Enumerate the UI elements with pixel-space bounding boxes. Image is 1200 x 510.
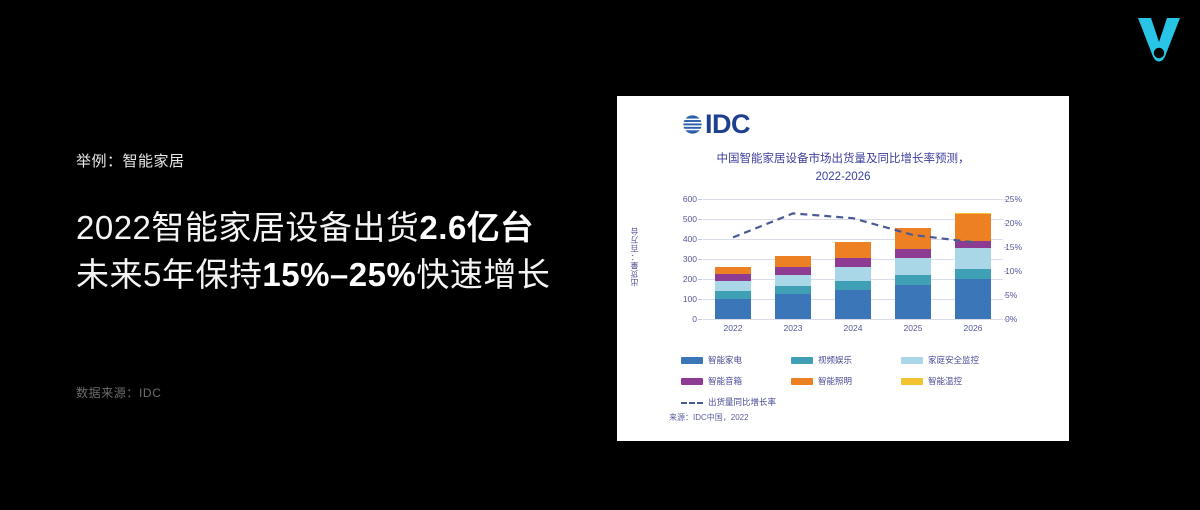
legend-color-swatch [681,378,703,385]
x-tick-label: 2026 [955,323,991,333]
bar-column[interactable] [715,267,751,319]
legend-color-swatch [791,357,813,364]
headline-line-1-emphasis: 2.6亿台 [419,209,533,246]
legend-color-swatch [681,357,703,364]
y-axis-label: 出货量：百万台 [629,227,643,287]
legend-color-swatch [901,378,923,385]
bar-segment[interactable] [955,248,991,269]
y-tick-left: 300 [683,254,697,264]
bar-segment[interactable] [775,256,811,267]
legend-label: 出货量同比增长率 [708,396,776,408]
axis-tick-mark [698,279,702,280]
x-tick-label: 2022 [715,323,751,333]
bar-segment[interactable] [715,281,751,291]
axis-tick-mark [698,219,702,220]
legend-label: 智能温控 [928,375,962,387]
headline-line-2-text-a: 未来5年保持 [76,256,262,293]
bar-segment[interactable] [835,281,871,290]
bar-segment[interactable] [895,249,931,258]
bar-segment[interactable] [955,241,991,248]
bar-segment[interactable] [955,269,991,279]
legend-dashed-swatch [681,399,703,406]
chart-title-line-2: 2022-2026 [816,171,871,183]
legend-label: 智能照明 [818,375,852,387]
eyebrow-label: 举例：智能家居 [76,150,596,171]
axis-tick-mark [1004,247,1008,248]
legend-item[interactable]: 视频娱乐 [791,354,901,366]
bar-segment[interactable] [955,214,991,241]
x-tick-label: 2025 [895,323,931,333]
headline-line-2-text-b: 快速增长 [416,256,550,293]
y-tick-left: 600 [683,194,697,204]
left-text-column: 举例：智能家居 2022智能家居设备出货2.6亿台 未来5年保持15%–25%快… [76,150,596,299]
legend-item[interactable]: 智能音箱 [681,375,791,387]
bar-segment[interactable] [715,267,751,274]
plot-area: 出货量：百万台 0100200300400500600 0%5%10%15%20… [617,199,1069,344]
axis-tick-mark [1004,199,1008,200]
bar-segment[interactable] [715,299,751,319]
data-source-note: 数据来源：IDC [76,384,161,401]
y-tick-left: 200 [683,274,697,284]
bar-segment[interactable] [775,294,811,319]
bar-segment[interactable] [895,285,931,319]
bar-segment[interactable] [775,275,811,286]
legend-row: 智能家电视频娱乐家庭安全监控 [681,354,1011,366]
legend-label: 视频娱乐 [818,354,852,366]
chart-source-note: 来源：IDC中国，2022 [669,412,749,423]
axis-tick-mark [1004,319,1008,320]
bar-segment[interactable] [955,279,991,319]
chart-card: IDC 中国智能家居设备市场出货量及同比增长率预测， 2022-2026 出货量… [617,96,1069,441]
legend-item[interactable]: 智能家电 [681,354,791,366]
bar-column[interactable] [835,242,871,319]
legend-row: 出货量同比增长率 [681,396,1011,408]
idc-wordmark: IDC [705,111,750,138]
y-tick-left: 400 [683,234,697,244]
headline-line-1: 2022智能家居设备出货2.6亿台 [76,205,596,252]
bar-segment[interactable] [835,258,871,266]
y-axis-right-ticks: 0%5%10%15%20%25% [1005,199,1045,319]
legend-item[interactable]: 智能照明 [791,375,901,387]
bar-segment[interactable] [895,275,931,285]
legend-item[interactable]: 家庭安全监控 [901,354,1011,366]
legend-label: 家庭安全监控 [928,354,979,366]
legend-color-swatch [791,378,813,385]
chart-title-line-1: 中国智能家居设备市场出货量及同比增长率预测， [717,153,970,165]
headline-line-2: 未来5年保持15%–25%快速增长 [76,252,596,299]
headline-line-2-emphasis: 15%–25% [262,256,416,293]
bar-segment[interactable] [895,258,931,276]
bar-segment[interactable] [835,290,871,319]
bar-group [703,199,1003,319]
y-tick-left: 500 [683,214,697,224]
slide-root: 举例：智能家居 2022智能家居设备出货2.6亿台 未来5年保持15%–25%快… [0,0,1200,510]
bar-segment[interactable] [715,274,751,281]
bar-segment[interactable] [895,228,931,249]
chart-legend: 智能家电视频娱乐家庭安全监控智能音箱智能照明智能温控出货量同比增长率 [681,354,1011,417]
bar-segment[interactable] [715,291,751,299]
bar-column[interactable] [775,256,811,319]
axis-tick-mark [698,319,702,320]
axis-tick-mark [698,239,702,240]
legend-item[interactable]: 智能温控 [901,375,1011,387]
bar-segment[interactable] [775,286,811,294]
legend-item[interactable]: 出货量同比增长率 [681,396,791,408]
bar-column[interactable] [955,213,991,319]
axis-tick-mark [1004,223,1008,224]
bar-column[interactable] [895,228,931,319]
axis-tick-mark [1004,295,1008,296]
idc-logo: IDC [682,111,750,138]
v-logo [1136,14,1182,64]
axis-tick-mark [698,299,702,300]
legend-label: 智能音箱 [708,375,742,387]
headline-line-1-text: 2022智能家居设备出货 [76,209,419,246]
axis-tick-mark [1004,271,1008,272]
y-tick-left: 0 [692,314,697,324]
legend-color-swatch [901,357,923,364]
bar-segment[interactable] [835,267,871,281]
legend-row: 智能音箱智能照明智能温控 [681,375,1011,387]
bar-segment[interactable] [835,242,871,258]
grid-line [703,319,1003,320]
axis-tick-mark [698,259,702,260]
idc-globe-icon [682,114,703,135]
x-axis-labels: 20222023202420252026 [703,323,1003,333]
chart-title: 中国智能家居设备市场出货量及同比增长率预测， 2022-2026 [617,151,1069,187]
y-axis-left-ticks: 0100200300400500600 [647,199,697,319]
x-tick-label: 2024 [835,323,871,333]
bar-segment[interactable] [775,267,811,274]
x-tick-label: 2023 [775,323,811,333]
legend-label: 智能家电 [708,354,742,366]
y-tick-left: 100 [683,294,697,304]
axis-tick-mark [698,199,702,200]
